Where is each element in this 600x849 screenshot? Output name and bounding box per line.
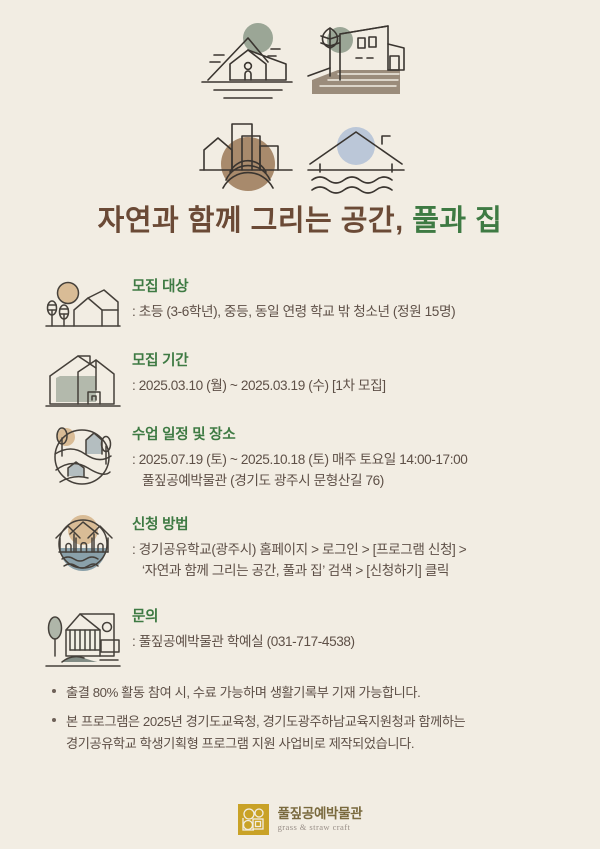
page-title: 자연과 함께 그리는 공간, 풀과 집 [0, 204, 600, 260]
hero-house-sun-icon [196, 14, 300, 104]
page-title-primary: 자연과 함께 그리는 공간, [98, 205, 404, 237]
info-label: 문의 [132, 608, 355, 628]
house-chimney-icon [44, 350, 122, 412]
info-desc-line2: ‘자연과 함께 그리는 공간, 풀과 집’ 검색 > [신청하기] 클릭 [132, 560, 466, 581]
info-label: 신청 방법 [132, 516, 466, 536]
info-label: 모집 대상 [132, 278, 455, 298]
info-row-period: 모집 기간 : 2025.03.10 (월) ~ 2025.03.19 (수) … [44, 350, 580, 412]
logo-name-en: grass & straw craft [278, 823, 363, 832]
info-list: 모집 대상 : 초등 (3-6학년), 중등, 동일 연령 학교 밖 청소년 (… [0, 276, 600, 668]
info-desc: : 초등 (3-6학년), 중등, 동일 연령 학교 밖 청소년 (정원 15명… [132, 301, 455, 322]
info-desc: : 경기공유학교(광주시) 홈페이지 > 로그인 > [프로그램 신청] > [132, 539, 466, 560]
info-row-contact: 문의 : 풀짚공예박물관 학예실 (031-717-4538) [44, 606, 580, 668]
bullet-icon [52, 711, 66, 722]
logo-name-ko: 풀짚공예박물관 [278, 807, 363, 821]
info-desc: : 풀짚공예박물관 학예실 (031-717-4538) [132, 631, 355, 652]
info-desc-line2: 풀짚공예박물관 (경기도 광주시 문형산길 76) [132, 470, 467, 491]
info-row-apply: 신청 방법 : 경기공유학교(광주시) 홈페이지 > 로그인 > [프로그램 신… [44, 514, 580, 594]
notes-list: 출결 80% 활동 참여 시, 수료 가능하며 생활기록부 기재 가능합니다. … [0, 682, 600, 754]
hero-illustration [0, 0, 600, 200]
hero-modern-building-icon [304, 14, 408, 104]
bullet-icon [52, 682, 66, 693]
note-line: 본 프로그램은 2025년 경기도교육청, 경기도광주하남교육지원청과 함께하는 [66, 711, 465, 732]
footer-logo: 풀짚공예박물관 grass & straw craft [0, 804, 600, 835]
note-item: 본 프로그램은 2025년 경기도교육청, 경기도광주하남교육지원청과 함께하는… [52, 711, 572, 754]
hero-waterside-roof-icon [304, 110, 408, 200]
hero-city-circle-icon [196, 110, 300, 200]
sun-trees-houses-icon [44, 276, 122, 338]
waterside-houses-circle-icon [44, 514, 122, 576]
house-garage-tree-icon [44, 606, 122, 668]
info-row-schedule: 수업 일정 및 장소 : 2025.07.19 (토) ~ 2025.10.18… [44, 424, 580, 502]
hero-illustration-grid [196, 14, 408, 200]
poster: 자연과 함께 그리는 공간, 풀과 집 [0, 0, 600, 849]
info-label: 수업 일정 및 장소 [132, 426, 467, 446]
straw-knot-logo-icon [238, 804, 269, 835]
info-label: 모집 기간 [132, 352, 386, 372]
info-desc: : 2025.07.19 (토) ~ 2025.10.18 (토) 매주 토요일… [132, 449, 467, 470]
note-line: 경기공유학교 학생기획형 프로그램 지원 사업비로 제작되었습니다. [66, 733, 465, 754]
page-title-accent: 풀과 집 [412, 205, 502, 237]
note-line: 출결 80% 활동 참여 시, 수료 가능하며 생활기록부 기재 가능합니다. [66, 682, 420, 703]
note-item: 출결 80% 활동 참여 시, 수료 가능하며 생활기록부 기재 가능합니다. [52, 682, 572, 703]
hill-village-circle-icon [44, 424, 122, 486]
info-desc: : 2025.03.10 (월) ~ 2025.03.19 (수) [1차 모집… [132, 375, 386, 396]
info-row-target: 모집 대상 : 초등 (3-6학년), 중등, 동일 연령 학교 밖 청소년 (… [44, 276, 580, 338]
